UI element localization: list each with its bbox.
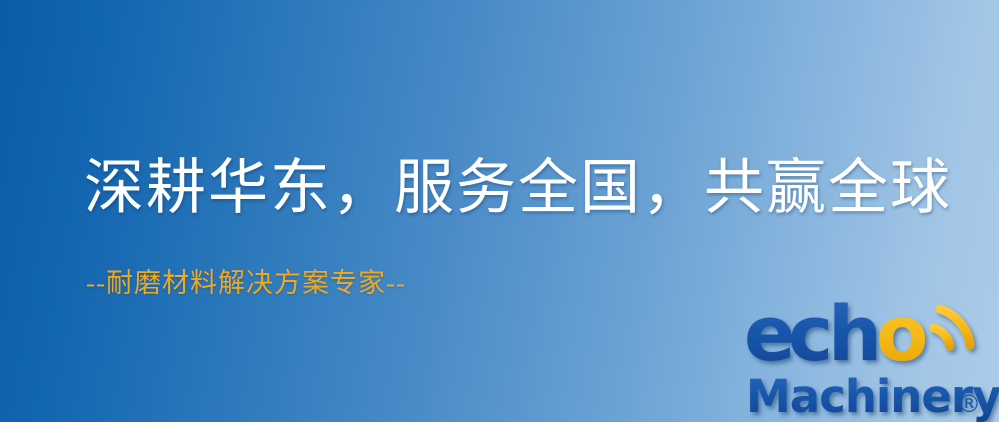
logo-subwordmark-group: Machinery ® [746,370,999,422]
logo-letter-h: h [828,289,879,378]
logo-letter-o-group: o [876,289,928,378]
logo-letter-e: e [744,289,793,378]
logo-wordmark-echo: e c h [744,289,879,378]
logo-letter-o: o [876,289,928,378]
registered-trademark-icon: ® [957,390,981,418]
logo-artwork: e c h o Machinery ® [744,296,999,422]
banner-subtitle: --耐磨材料解决方案专家-- [86,266,406,300]
promo-banner: 深耕华东，服务全国，共赢全球 --耐磨材料解决方案专家-- [0,0,999,422]
echo-machinery-logo: e c h o Machinery ® [744,296,999,422]
logo-letter-c: c [788,289,830,378]
signal-wave-icon [934,309,970,346]
banner-headline: 深耕华东，服务全国，共赢全球 [84,152,952,224]
